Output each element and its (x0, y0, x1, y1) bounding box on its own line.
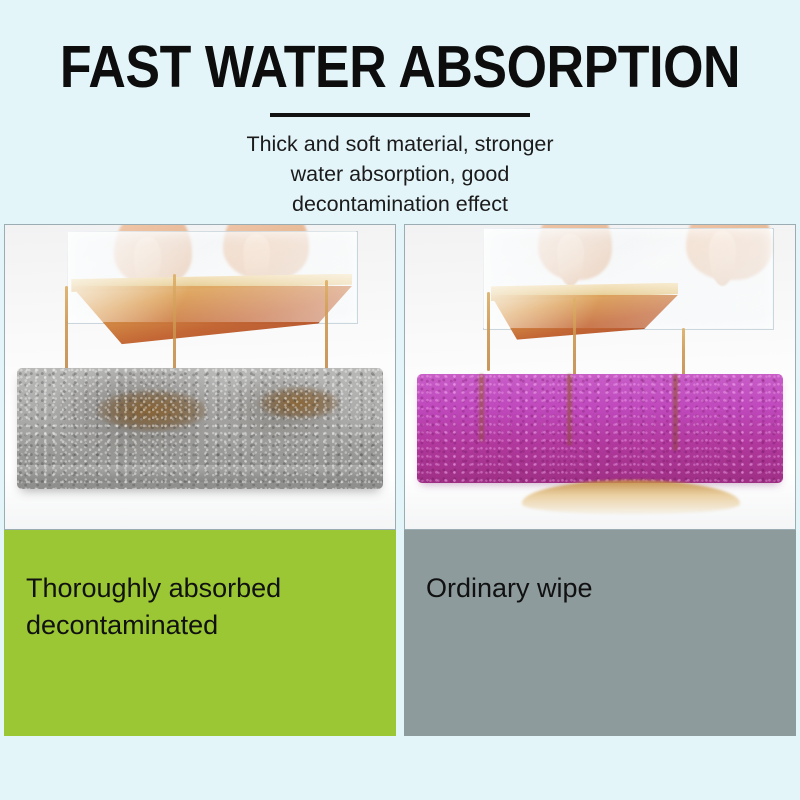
subtitle-block: Thick and soft material, stronger water … (0, 129, 800, 219)
caption-ordinary: Ordinary wipe (404, 530, 796, 736)
tray-highlight (483, 228, 772, 328)
page-title: FAST WATER ABSORPTION (48, 38, 752, 97)
scene-right (405, 225, 795, 529)
subtitle-line-3: decontamination effect (0, 189, 800, 219)
scene-left (5, 225, 395, 529)
runoff-streak-3 (673, 374, 678, 451)
subtitle-line-1: Thick and soft material, stronger (0, 129, 800, 159)
pour-stream-1 (65, 286, 68, 371)
purple-ordinary-wipe (417, 374, 784, 483)
absorbed-stain-1 (97, 390, 207, 431)
caption-line-2: decontaminated (26, 607, 374, 644)
photo-absorbent-cloth (4, 224, 396, 530)
comparison-grid: Thoroughly absorbed decontaminated (4, 224, 796, 736)
runoff-streak-2 (567, 374, 572, 446)
caption-line-1: Ordinary wipe (426, 570, 774, 607)
caption-absorbent: Thoroughly absorbed decontaminated (4, 530, 396, 736)
comparison-column-ordinary: Ordinary wipe (404, 224, 796, 736)
pour-stream-2 (173, 274, 176, 383)
absorbed-stain-2 (259, 387, 340, 419)
pour-stream-2 (573, 298, 576, 377)
runoff-streak-1 (479, 374, 484, 442)
title-divider (270, 113, 530, 117)
promo-page: FAST WATER ABSORPTION Thick and soft mat… (0, 0, 800, 800)
pour-stream-1 (487, 292, 490, 371)
gray-microfiber-cloth (17, 368, 384, 490)
caption-line-1: Thoroughly absorbed (26, 570, 374, 607)
pour-stream-3 (325, 280, 328, 377)
comparison-column-good: Thoroughly absorbed decontaminated (4, 224, 396, 736)
header-block: FAST WATER ABSORPTION Thick and soft mat… (0, 0, 800, 219)
tray-highlight (67, 231, 356, 322)
photo-ordinary-wipe (404, 224, 796, 530)
cloth-fold-edge (17, 465, 384, 482)
subtitle-line-2: water absorption, good (0, 159, 800, 189)
